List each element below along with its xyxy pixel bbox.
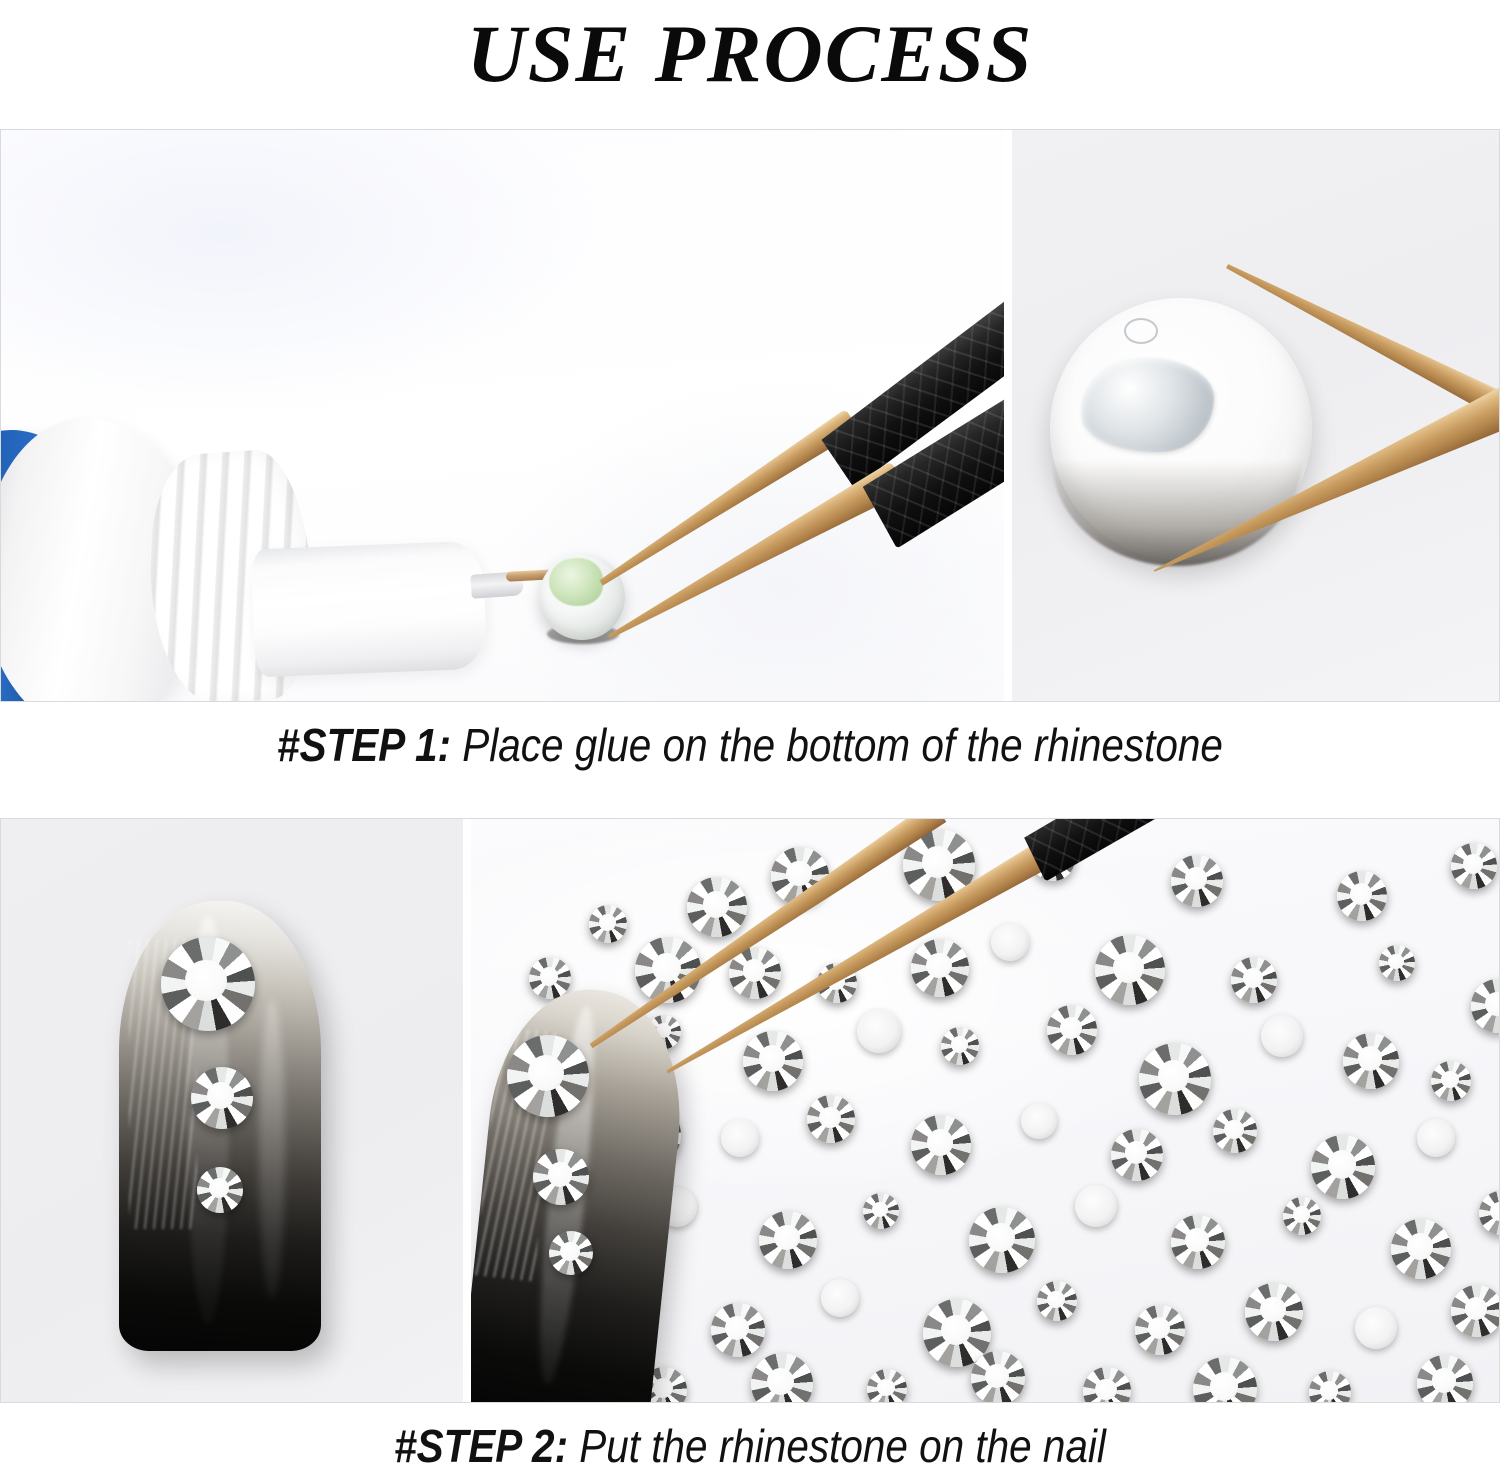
step-2-label: #STEP 2:: [394, 1420, 568, 1466]
loose-rhinestone-faceted: [1135, 1305, 1185, 1355]
loose-rhinestone-faceted: [1047, 1005, 1097, 1055]
loose-rhinestone-faceted: [1111, 1129, 1163, 1181]
glue-blob: [1082, 358, 1214, 452]
step-1-label: #STEP 1:: [277, 719, 451, 771]
step-1-photo-row: [0, 129, 1500, 702]
nail-gloss-highlight-secondary: [259, 999, 285, 1299]
rhinestone-on-nail-small: [197, 1167, 243, 1213]
loose-rhinestone-faceted: [911, 1115, 971, 1175]
loose-rhinestone-faceted: [941, 1027, 979, 1065]
loose-rhinestone-faceted: [867, 1369, 907, 1402]
photo-finished-nail: [1, 819, 463, 1402]
glue-bottle-nozzle: [251, 541, 488, 678]
rhinestone-on-nail-small: [549, 1231, 593, 1275]
loose-rhinestone-faceted: [1337, 871, 1387, 921]
loose-rhinestone-faceted: [1451, 843, 1497, 889]
loose-rhinestone-faceted: [971, 1351, 1025, 1402]
loose-rhinestone-faceted: [1037, 1281, 1077, 1321]
loose-rhinestone-faceted: [1245, 1283, 1303, 1341]
photo-placing-rhinestone: [471, 819, 1500, 1402]
step-1-caption: #STEP 1: Place glue on the bottom of the…: [90, 722, 1410, 768]
rhinestone-on-nail-large: [507, 1035, 589, 1117]
glue-droplet-on-rhinestone: [549, 558, 603, 606]
page-title: USE PROCESS: [0, 0, 1500, 108]
loose-rhinestone-faceted: [863, 1193, 899, 1229]
loose-rhinestone-flat-back: [1417, 1119, 1455, 1157]
loose-rhinestone-faceted: [1095, 935, 1165, 1005]
loose-rhinestone-faceted: [759, 1211, 817, 1269]
loose-rhinestone-faceted: [743, 1031, 803, 1091]
loose-rhinestone-faceted: [1139, 1043, 1211, 1115]
step-1-text: Place glue on the bottom of the rhinesto…: [451, 719, 1223, 771]
loose-rhinestone-faceted: [1311, 1135, 1375, 1199]
infographic-page: USE PROCESS: [0, 0, 1500, 1466]
loose-rhinestone-faceted: [1283, 1197, 1321, 1235]
rhinestone-on-nail-medium: [533, 1149, 589, 1205]
loose-rhinestone-flat-back: [1355, 1307, 1397, 1349]
loose-rhinestone-faceted: [1213, 1109, 1257, 1153]
loose-rhinestone-flat-back: [857, 1009, 901, 1053]
panel-divider: [463, 819, 471, 1402]
loose-rhinestone-faceted: [589, 905, 627, 943]
loose-rhinestone-faceted: [1451, 1285, 1500, 1337]
loose-rhinestone-faceted: [1171, 855, 1223, 907]
step-2-text: Put the rhinestone on the nail: [568, 1420, 1106, 1466]
loose-rhinestone-faceted: [1379, 945, 1415, 981]
loose-rhinestone-faceted: [1343, 1033, 1399, 1089]
loose-rhinestone-flat-back: [1261, 1015, 1303, 1057]
panel-divider: [1004, 130, 1012, 701]
loose-rhinestone-faceted: [687, 877, 747, 937]
loose-rhinestone-faceted: [711, 1303, 765, 1357]
loose-rhinestone-flat-back: [821, 1279, 859, 1317]
loose-rhinestone-faceted: [911, 939, 969, 997]
loose-rhinestone-flat-back: [721, 1119, 759, 1157]
loose-rhinestone-faceted: [1171, 1215, 1225, 1269]
loose-rhinestone-faceted: [969, 1207, 1035, 1273]
rhinestone-on-nail-large: [161, 937, 255, 1031]
loose-rhinestone-faceted: [529, 957, 571, 999]
loose-rhinestone-faceted: [1231, 957, 1277, 1003]
photo-rhinestone-glue-closeup: [1012, 130, 1500, 701]
loose-rhinestone-faceted: [807, 1095, 855, 1143]
step-2-photo-row: [0, 818, 1500, 1403]
photo-glue-bottle-and-tweezers: [1, 130, 1004, 701]
loose-rhinestone-flat-back: [1021, 1103, 1057, 1139]
rhinestone-on-nail-medium: [191, 1067, 253, 1129]
step-2-caption: #STEP 2: Put the rhinestone on the nail: [90, 1423, 1410, 1466]
glue-air-bubble: [1124, 318, 1158, 344]
loose-rhinestone-flat-back: [991, 923, 1029, 961]
loose-rhinestone-faceted: [1417, 1355, 1473, 1402]
loose-rhinestone-faceted: [1391, 1219, 1451, 1279]
loose-rhinestone-flat-back: [1075, 1185, 1117, 1227]
loose-rhinestone-faceted: [1431, 1061, 1471, 1101]
